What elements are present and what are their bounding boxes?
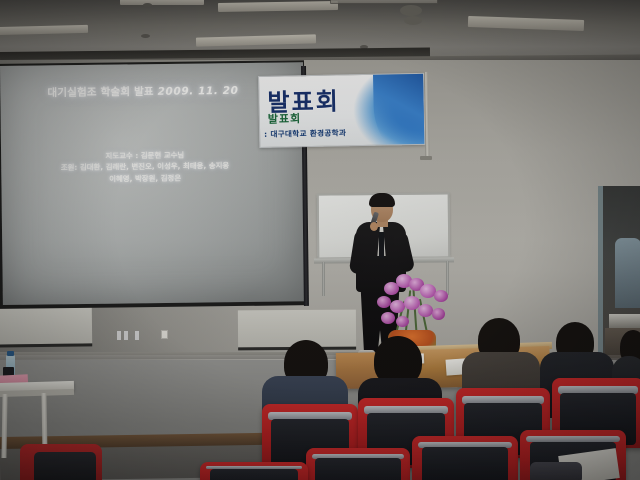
slide-body: 지도교수 : 김문현 교수님 조원: 김대환, 김래란, 변진오, 이성우, 최… — [14, 148, 276, 185]
fluorescent-ceiling-lights — [0, 25, 88, 35]
slide-title-date: 2009. 11. 20 — [158, 85, 239, 98]
ceiling-speaker — [404, 16, 422, 25]
chair-back-pad — [315, 458, 400, 480]
fluorescent-ceiling-lights — [468, 16, 584, 31]
wall-panel-left — [0, 306, 92, 347]
orchid-blossom — [434, 290, 448, 302]
ceiling-smoke-detector — [400, 5, 422, 16]
water-bottle-cap — [7, 351, 14, 356]
chair-back-pad — [422, 447, 509, 480]
wall-outlet — [161, 330, 168, 339]
wall-socket — [135, 331, 139, 340]
ceiling-vent — [141, 34, 150, 38]
banner-subhead: 발표회 — [268, 110, 302, 127]
fluorescent-ceiling-lights — [218, 1, 338, 12]
banner-footer: : 대구대학교 환경공학과 — [264, 127, 346, 140]
photo-scene: 대기실험조 학술회 발표 2009. 11. 20 지도교수 : 김문현 교수님… — [0, 0, 640, 480]
audience-person — [34, 452, 96, 480]
ceiling — [0, 0, 640, 62]
bag-on-chair — [530, 462, 582, 480]
fluorescent-ceiling-lights — [120, 0, 204, 5]
orchid-blossom — [381, 312, 395, 324]
orchid-blossom — [432, 308, 445, 320]
slide-title-text: 대기실험조 학술회 발표 — [47, 86, 153, 99]
ceiling-vent — [143, 3, 152, 7]
chair-back-pad — [210, 469, 299, 480]
ceiling-panel — [330, 0, 438, 4]
fluorescent-ceiling-lights — [196, 34, 316, 46]
orchid-blossom — [396, 316, 409, 327]
auditorium-chair — [412, 436, 518, 480]
desk-in-doorway — [609, 314, 640, 328]
presenter-hand — [370, 222, 378, 231]
whiteboard-leg — [322, 262, 325, 296]
wall-socket — [117, 331, 121, 340]
orchid-blossom — [377, 296, 391, 308]
auditorium-chair — [306, 448, 410, 480]
orchid-blossom — [390, 300, 405, 313]
presenter-tie — [379, 232, 384, 258]
wall-socket — [124, 331, 128, 340]
orchid-blossom — [418, 304, 433, 317]
whiteboard-leg — [446, 261, 449, 295]
presenter-hair — [369, 193, 395, 207]
banner-pole-base — [420, 156, 432, 160]
auditorium-chair — [200, 462, 308, 480]
slide-title: 대기실험조 학술회 발표 2009. 11. 20 — [28, 83, 258, 101]
person-in-doorway — [615, 238, 640, 308]
event-banner: 발표회 발표회 : 대구대학교 환경공학과 — [258, 73, 425, 148]
